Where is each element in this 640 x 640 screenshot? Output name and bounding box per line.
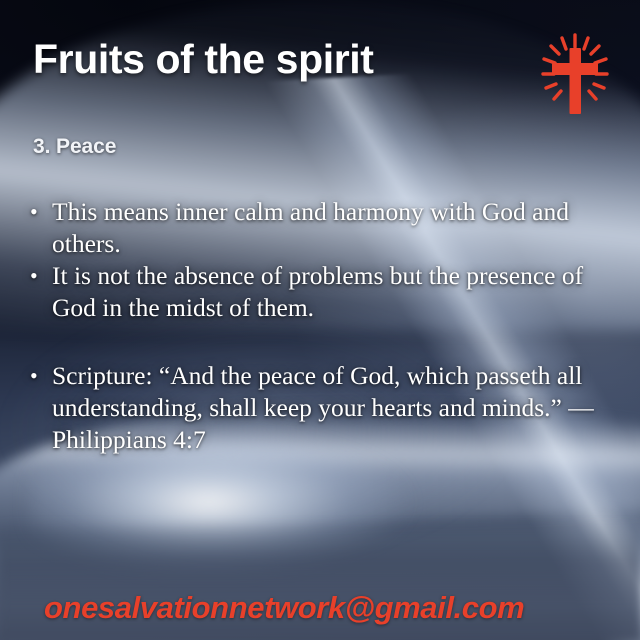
slide-subtitle: 3. Peace (33, 135, 116, 159)
list-item: • Scripture: “And the peace of God, whic… (30, 360, 615, 456)
slide-content: Fruits of the spirit 3. Peace (0, 0, 640, 640)
bullet-point-icon: • (30, 260, 52, 292)
list-item-text: It is not the absence of problems but th… (52, 260, 615, 324)
page-title: Fruits of the spirit (33, 36, 374, 83)
bullet-list: • This means inner calm and harmony with… (30, 196, 615, 456)
radiant-cross-icon (538, 28, 612, 116)
list-item: • This means inner calm and harmony with… (30, 196, 615, 260)
list-item-text: This means inner calm and harmony with G… (52, 196, 615, 260)
presentation-slide: Fruits of the spirit 3. Peace (0, 0, 640, 640)
list-spacer (30, 324, 615, 360)
contact-email[interactable]: onesalvationnetwork@gmail.com (44, 590, 524, 626)
list-item-text: Scripture: “And the peace of God, which … (52, 360, 615, 456)
bullet-point-icon: • (30, 360, 52, 392)
list-item: • It is not the absence of problems but … (30, 260, 615, 324)
bullet-point-icon: • (30, 196, 52, 228)
